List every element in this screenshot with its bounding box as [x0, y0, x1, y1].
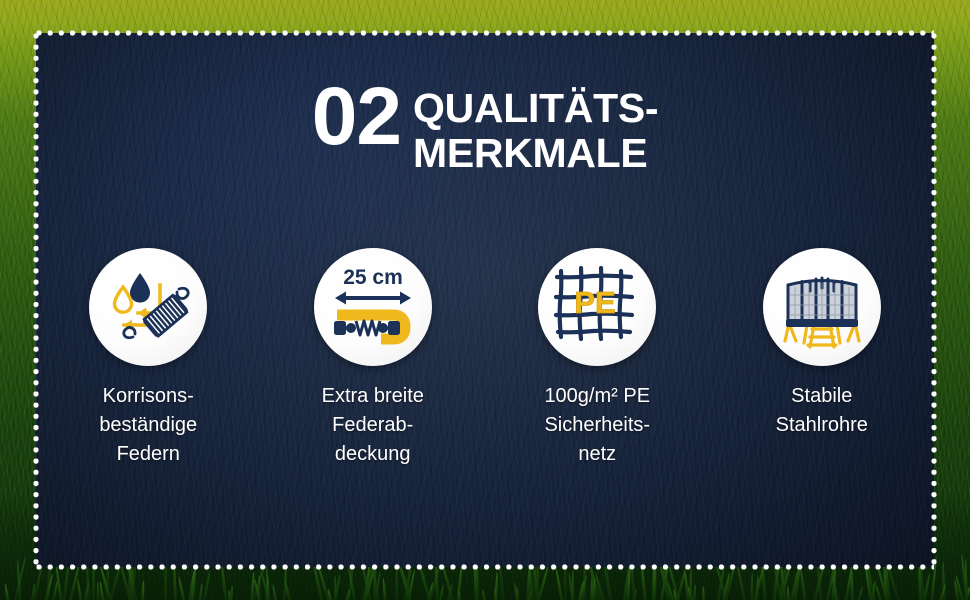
title-line-2: MERKMALE	[413, 131, 658, 176]
feature-caption-2: Extra breite Federab- deckung	[322, 382, 424, 469]
caption-line: Stabile	[776, 382, 868, 411]
caption-line: Federn	[99, 440, 197, 469]
feature-caption-1: Korrisons- beständige Federn	[99, 382, 197, 469]
caption-line: beständige	[99, 411, 197, 440]
feature-item-3: PE 100g/m² PE Sicherheits- netz	[485, 248, 710, 469]
feature-caption-4: Stabile Stahlrohre	[776, 382, 868, 440]
feature-icon-circle-4	[763, 248, 881, 366]
feature-caption-3: 100g/m² PE Sicherheits- netz	[544, 382, 650, 469]
icon-label-25cm: 25 cm	[343, 266, 403, 289]
spring-cover-width-icon: 25 cm	[325, 257, 421, 358]
caption-line: Stahlrohre	[776, 411, 868, 440]
feature-item-2: 25 cm	[261, 248, 486, 469]
page-title: 02 QUALITÄTS- MERKMALE	[36, 78, 934, 176]
caption-line: Federab-	[322, 411, 424, 440]
caption-line: deckung	[322, 440, 424, 469]
trampoline-steel-frame-icon	[774, 257, 870, 358]
caption-line: 100g/m² PE	[544, 382, 650, 411]
feature-icon-circle-1	[89, 248, 207, 366]
pe-safety-net-mesh-icon: PE	[549, 257, 645, 358]
feature-list: Korrisons- beständige Federn 25 cm	[36, 248, 934, 469]
feature-icon-circle-3: PE	[538, 248, 656, 366]
caption-line: netz	[544, 440, 650, 469]
infographic-stage: 02 QUALITÄTS- MERKMALE	[0, 0, 970, 600]
feature-icon-circle-2: 25 cm	[314, 248, 432, 366]
feature-item-4: Stabile Stahlrohre	[710, 248, 935, 469]
caption-line: Sicherheits-	[544, 411, 650, 440]
caption-line: Korrisons-	[99, 382, 197, 411]
icon-label-pe: PE	[575, 285, 616, 320]
title-line-1: QUALITÄTS-	[413, 86, 658, 131]
feature-item-1: Korrisons- beständige Federn	[36, 248, 261, 469]
caption-line: Extra breite	[322, 382, 424, 411]
corrosion-resistant-spring-icon	[102, 259, 194, 356]
section-number: 02	[312, 78, 401, 156]
